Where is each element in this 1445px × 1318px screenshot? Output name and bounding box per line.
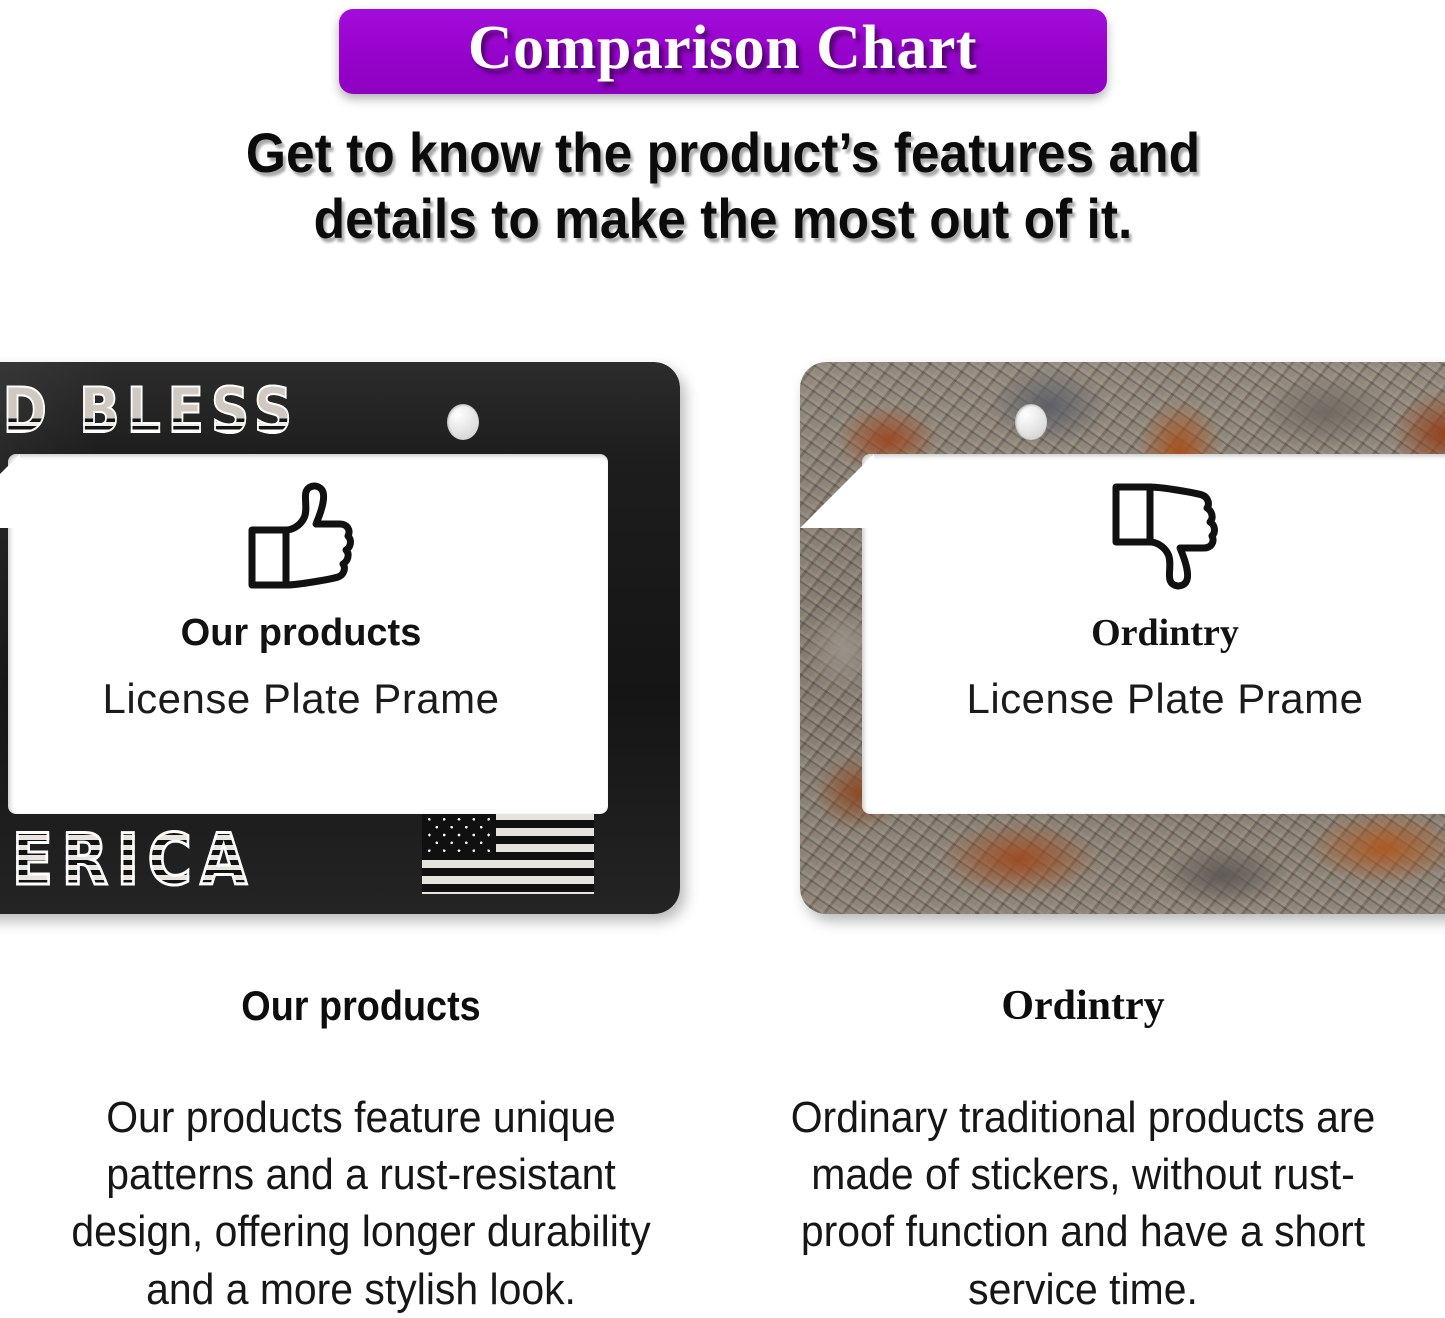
- right-panel-title: Ordintry: [1091, 614, 1239, 652]
- thumbs-up-icon: [242, 480, 360, 592]
- ordinary-product-frame: Ordintry License Plate Prame: [800, 362, 1445, 914]
- comparison-column-ordinary: Ordintry Ordinary traditional products a…: [722, 985, 1444, 1318]
- mounting-hole-left: [447, 404, 479, 440]
- our-product-content: Our products License Plate Prame: [0, 480, 680, 720]
- column-body-ours: Our products feature unique patterns and…: [62, 1089, 659, 1318]
- comparison-columns: Our products Our products feature unique…: [0, 985, 1445, 1318]
- column-heading-ordinary: Ordintry: [762, 985, 1404, 1027]
- column-body-ordinary: Ordinary traditional products are made o…: [784, 1089, 1381, 1318]
- title-banner-wrap: Comparison Chart: [0, 0, 1445, 94]
- right-panel-subtitle: License Plate Prame: [966, 678, 1363, 720]
- plate-top-lettering: OD BLESS: [0, 378, 327, 444]
- page-title: Comparison Chart: [373, 17, 1073, 80]
- comparison-column-ours: Our products Our products feature unique…: [0, 985, 722, 1318]
- flag-canton: [422, 812, 496, 858]
- thumbs-down-icon: [1106, 480, 1224, 592]
- our-product-frame: OD BLESS MERICA Our products License Pla…: [0, 362, 680, 914]
- ordinary-product-content: Ordintry License Plate Prame: [800, 480, 1445, 720]
- plate-top-text: OD BLESS: [0, 380, 299, 442]
- left-panel-subtitle: License Plate Prame: [102, 678, 499, 720]
- product-frames-row: OD BLESS MERICA Our products License Pla…: [0, 362, 1445, 922]
- subtitle-line-1: Get to know the product’s features and: [180, 120, 1266, 186]
- mounting-hole-right: [1015, 404, 1047, 440]
- comparison-chart-banner: Comparison Chart: [339, 9, 1107, 94]
- subtitle-line-2: details to make the most out of it.: [180, 186, 1266, 252]
- left-panel-title: Our products: [181, 614, 422, 652]
- us-flag-icon: [422, 812, 594, 894]
- plate-bottom-lettering: MERICA: [0, 824, 281, 896]
- plate-bottom-text: MERICA: [0, 825, 256, 895]
- page-subtitle: Get to know the product’s features and d…: [180, 120, 1266, 252]
- column-heading-ours: Our products: [72, 985, 650, 1027]
